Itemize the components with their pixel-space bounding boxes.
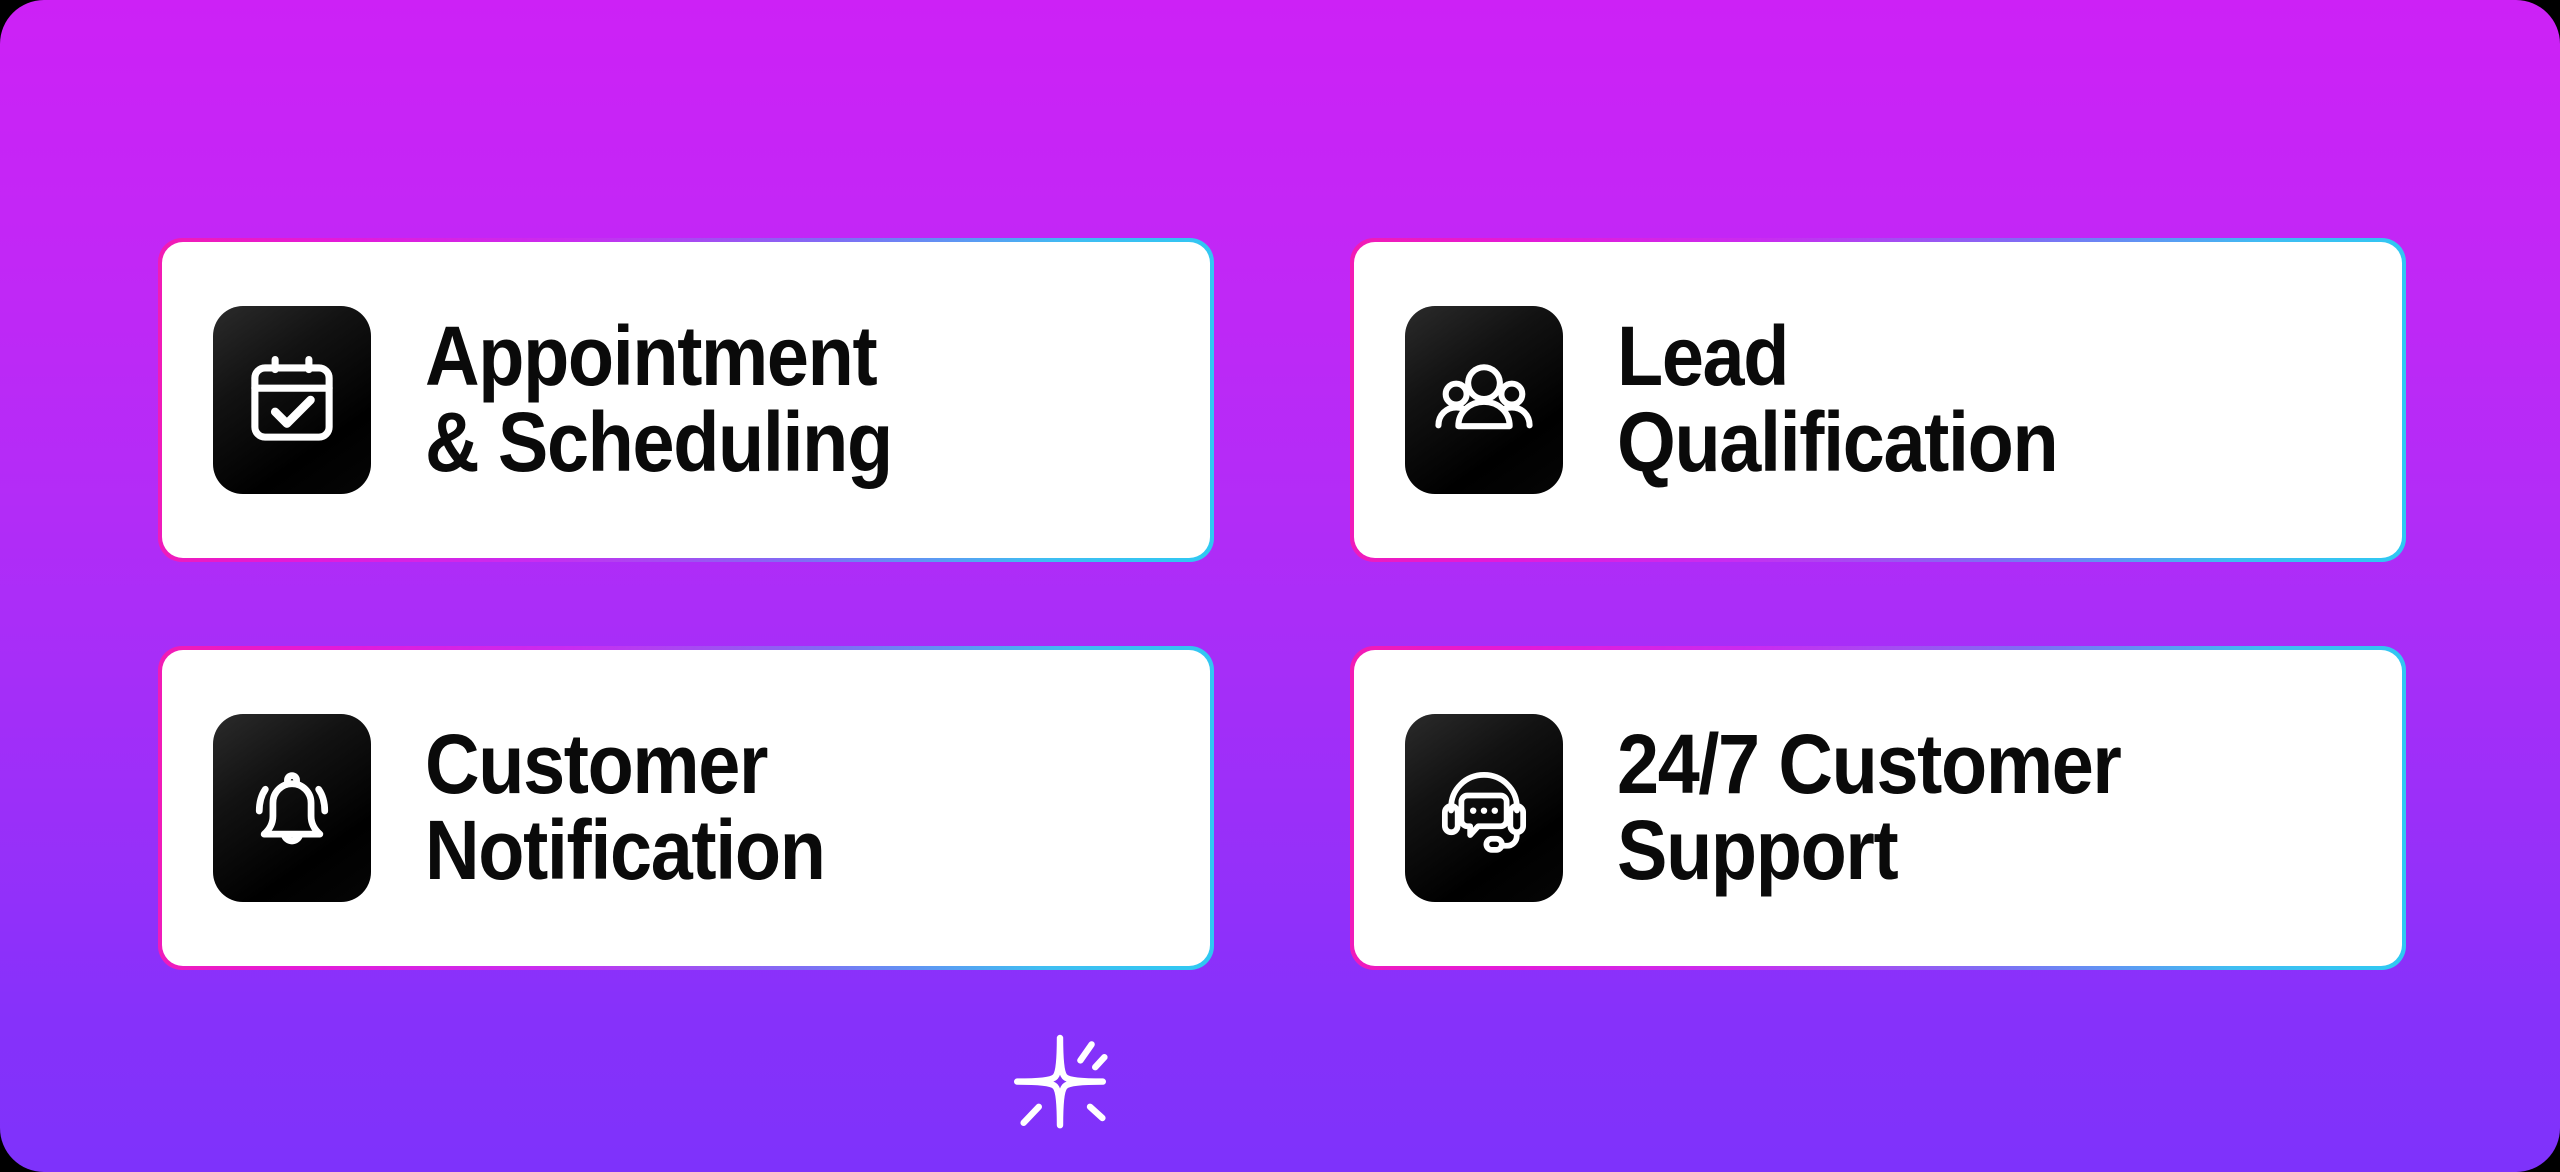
icon-tile	[1398, 299, 1570, 501]
feature-card-label: Appointment & Scheduling	[425, 314, 892, 485]
bell-ringing-icon	[213, 714, 371, 902]
card-content: Lead Qualification	[1354, 242, 2402, 558]
gradient-backdrop: Appointment & Scheduling	[0, 0, 2560, 1172]
headset-chat-icon	[1405, 714, 1563, 902]
card-content: Appointment & Scheduling	[162, 242, 1210, 558]
card-content: Customer Notification	[162, 650, 1210, 966]
calendar-check-icon	[213, 306, 371, 494]
icon-tile	[1398, 707, 1570, 909]
card-content: 24/7 Customer Support	[1354, 650, 2402, 966]
sparkle-star-icon	[1000, 1022, 1128, 1150]
feature-card-label: 24/7 Customer Support	[1617, 722, 2120, 893]
feature-card-grid: Appointment & Scheduling	[158, 238, 2406, 970]
feature-card-label: Lead Qualification	[1617, 314, 2057, 485]
icon-tile	[206, 299, 378, 501]
people-group-icon	[1405, 306, 1563, 494]
feature-card-customer-notification[interactable]: Customer Notification	[158, 646, 1214, 970]
feature-card-lead-qualification[interactable]: Lead Qualification	[1350, 238, 2406, 562]
feature-grid-graphic: Appointment & Scheduling	[0, 0, 2560, 1172]
feature-card-label: Customer Notification	[425, 722, 825, 893]
icon-tile	[206, 707, 378, 909]
feature-card-appointment-scheduling[interactable]: Appointment & Scheduling	[158, 238, 1214, 562]
feature-card-customer-support[interactable]: 24/7 Customer Support	[1350, 646, 2406, 970]
